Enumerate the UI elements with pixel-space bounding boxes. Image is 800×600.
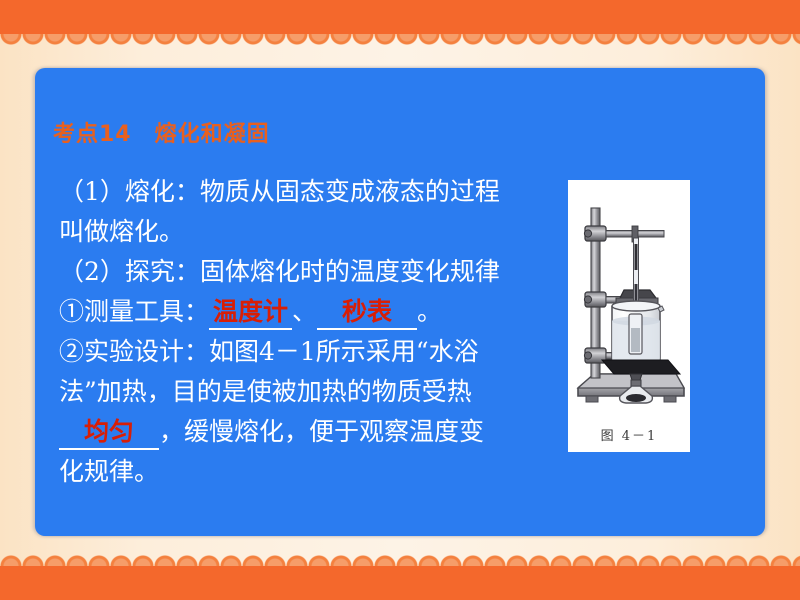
body-line-5: ②实验设计：如图4－1所示采用“水浴	[59, 332, 569, 372]
body-line-4: ①测量工具：温度计、秒表。	[59, 292, 569, 332]
answer-blank-uniform: 均匀	[59, 416, 159, 450]
sentence-period: 。	[417, 297, 442, 326]
body-line-1: （1）熔化：物质从固态变成液态的过程	[59, 172, 569, 212]
answer-blank-thermometer: 温度计	[209, 296, 292, 330]
body-line-8: 化规律。	[59, 452, 569, 492]
page-title: 考点14 熔化和凝固	[53, 116, 270, 148]
measuring-tools-label: ①测量工具：	[59, 297, 209, 326]
body-line-2: 叫做熔化。	[59, 212, 569, 252]
body-line-3: （2）探究：固体熔化时的温度变化规律	[59, 252, 569, 292]
decorative-border-top	[0, 0, 800, 34]
figure-container: 图 4－1	[568, 180, 690, 452]
content-panel: 考点14 熔化和凝固 （1）熔化：物质从固态变成液态的过程 叫做熔化。 （2）探…	[35, 68, 765, 536]
lesson-body-text: （1）熔化：物质从固态变成液态的过程 叫做熔化。 （2）探究：固体熔化时的温度变…	[59, 172, 569, 492]
scallop-highlight-bottom	[0, 548, 800, 566]
beaker	[612, 301, 664, 364]
body-line-7-rest: ，缓慢熔化，便于观察温度变	[159, 417, 484, 446]
decorative-border-bottom	[0, 566, 800, 600]
water-bath-apparatus-diagram	[572, 188, 686, 418]
scallop-highlight-top	[0, 34, 800, 52]
body-line-6: 法”加热，目的是使被加热的物质受热	[59, 372, 569, 412]
wire-gauze	[602, 360, 680, 374]
upper-clamp	[584, 226, 664, 242]
list-separator: 、	[292, 297, 317, 326]
slide-canvas: 考点14 熔化和凝固 （1）熔化：物质从固态变成液态的过程 叫做熔化。 （2）探…	[0, 0, 800, 600]
answer-blank-stopwatch: 秒表	[317, 296, 417, 330]
figure-caption: 图 4－1	[568, 425, 690, 444]
body-line-7: 均匀，缓慢熔化，便于观察温度变	[59, 412, 569, 452]
